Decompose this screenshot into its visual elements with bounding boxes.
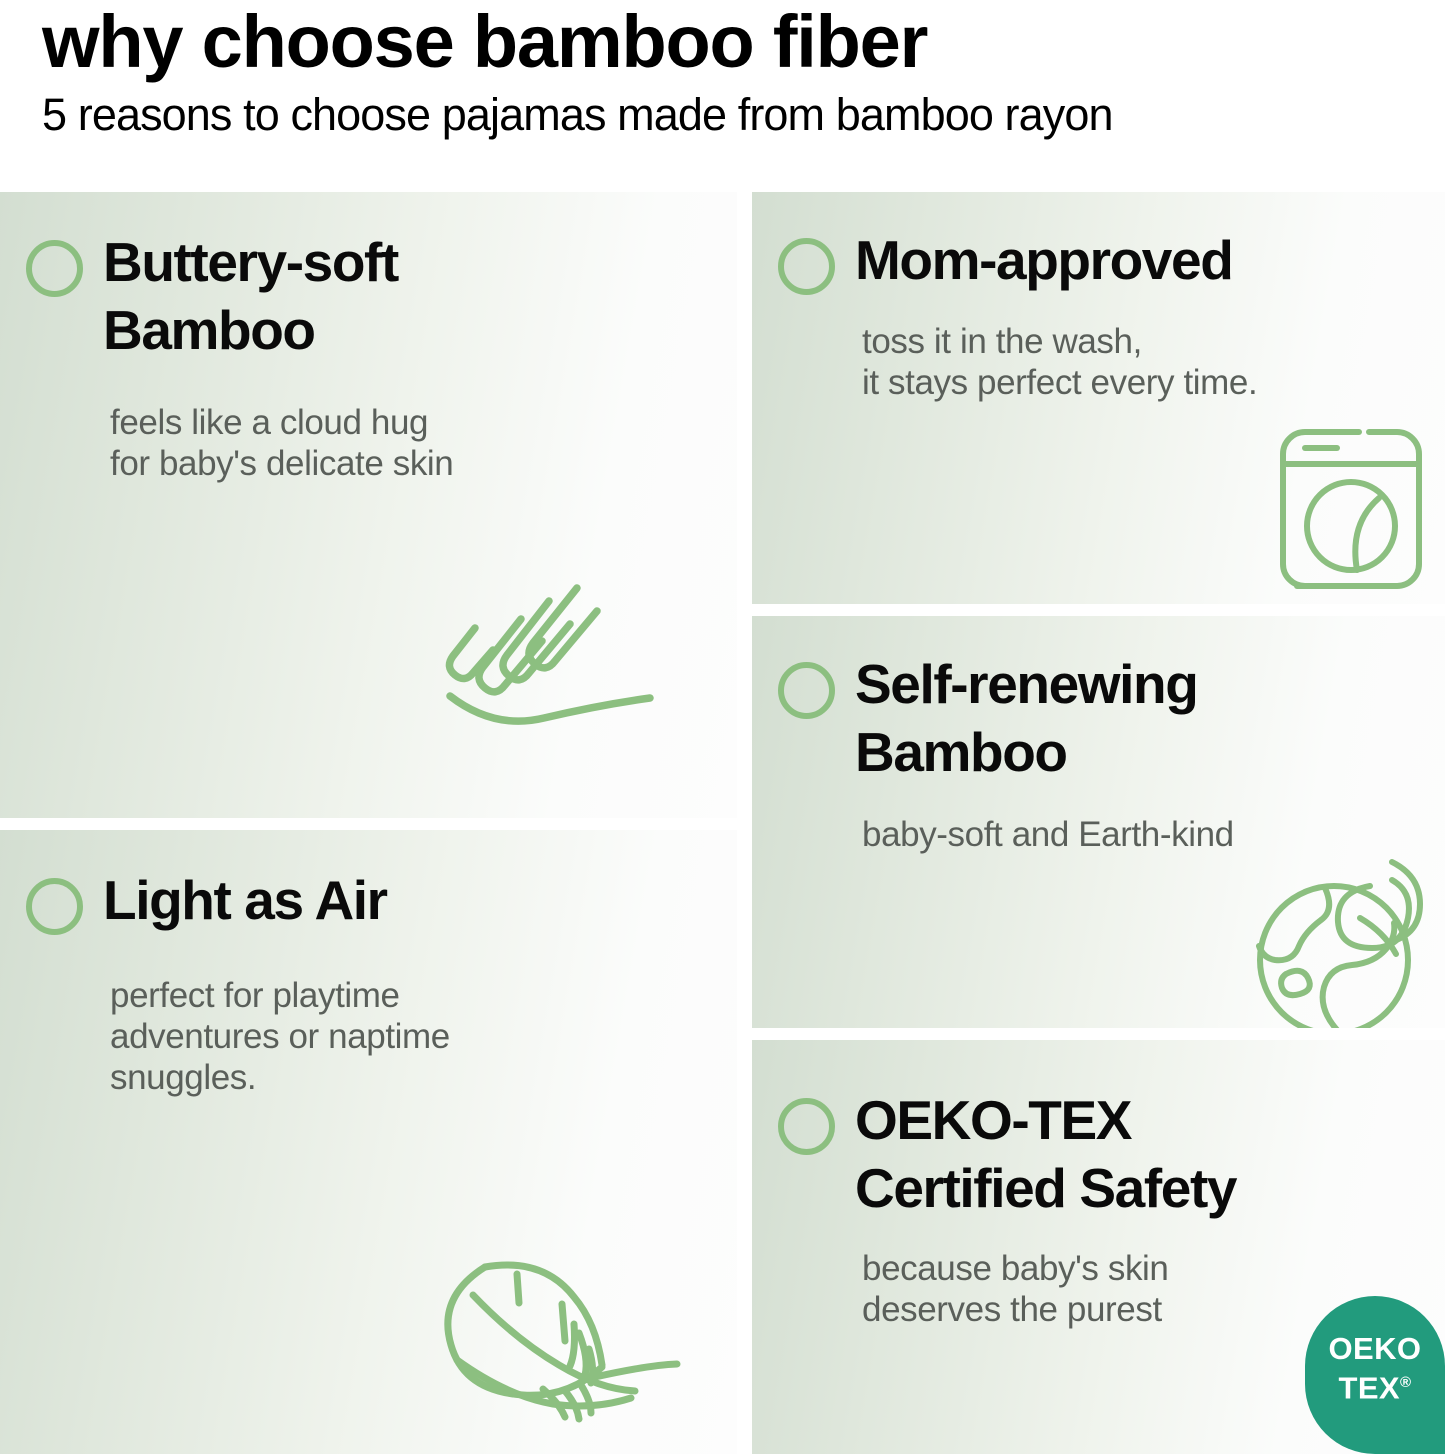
washing-machine-icon xyxy=(1275,426,1427,592)
card-header: OEKO-TEX Certified Safety xyxy=(752,1040,1445,1222)
card-body-text: feels like a cloud hug for baby's delica… xyxy=(0,364,737,484)
registered-mark: ® xyxy=(1400,1374,1411,1391)
card-buttery-soft-bamboo: Buttery-soft Bamboo feels like a cloud h… xyxy=(0,192,737,818)
card-oeko-tex-certified-safety: OEKO-TEX Certified Safety because baby's… xyxy=(752,1040,1445,1454)
card-title: Buttery-soft Bamboo xyxy=(103,228,398,364)
card-body-text: perfect for playtime adventures or napti… xyxy=(0,935,737,1098)
circle-bullet-icon xyxy=(778,238,835,295)
card-title: Light as Air xyxy=(103,866,387,934)
oeko-badge-line2: TEX® xyxy=(1339,1366,1412,1405)
header: why choose bamboo fiber 5 reasons to cho… xyxy=(0,0,1445,184)
card-header: Buttery-soft Bamboo xyxy=(0,192,737,364)
card-body-text: toss it in the wash, it stays perfect ev… xyxy=(752,295,1445,403)
circle-bullet-icon xyxy=(778,1098,835,1155)
circle-bullet-icon xyxy=(778,662,835,719)
card-title: OEKO-TEX Certified Safety xyxy=(855,1086,1236,1222)
card-header: Light as Air xyxy=(0,830,737,935)
card-mom-approved: Mom-approved toss it in the wash, it sta… xyxy=(752,192,1445,604)
card-title: Self-renewing Bamboo xyxy=(855,650,1197,786)
earth-with-leaves-icon xyxy=(1252,856,1437,1028)
card-self-renewing-bamboo: Self-renewing Bamboo baby-soft and Earth… xyxy=(752,616,1445,1028)
card-header: Mom-approved xyxy=(752,192,1445,295)
oeko-badge-line2-text: TEX xyxy=(1339,1371,1401,1406)
hand-touching-fabric-icon xyxy=(445,583,685,758)
page-subtitle: 5 reasons to choose pajamas made from ba… xyxy=(42,86,1423,144)
oeko-badge-line1: OEKO xyxy=(1329,1332,1422,1366)
page-title: why choose bamboo fiber xyxy=(42,2,1423,82)
circle-bullet-icon xyxy=(26,240,83,297)
benefits-grid: Buttery-soft Bamboo feels like a cloud h… xyxy=(0,192,1445,1454)
feather-icon xyxy=(429,1245,697,1454)
infographic-page: why choose bamboo fiber 5 reasons to cho… xyxy=(0,0,1445,1454)
card-light-as-air: Light as Air perfect for playtime advent… xyxy=(0,830,737,1454)
circle-bullet-icon xyxy=(26,878,83,935)
card-body-text: baby-soft and Earth-kind xyxy=(752,786,1445,855)
oeko-tex-badge: OEKO TEX® xyxy=(1305,1296,1445,1454)
card-title: Mom-approved xyxy=(855,226,1232,294)
card-header: Self-renewing Bamboo xyxy=(752,616,1445,786)
